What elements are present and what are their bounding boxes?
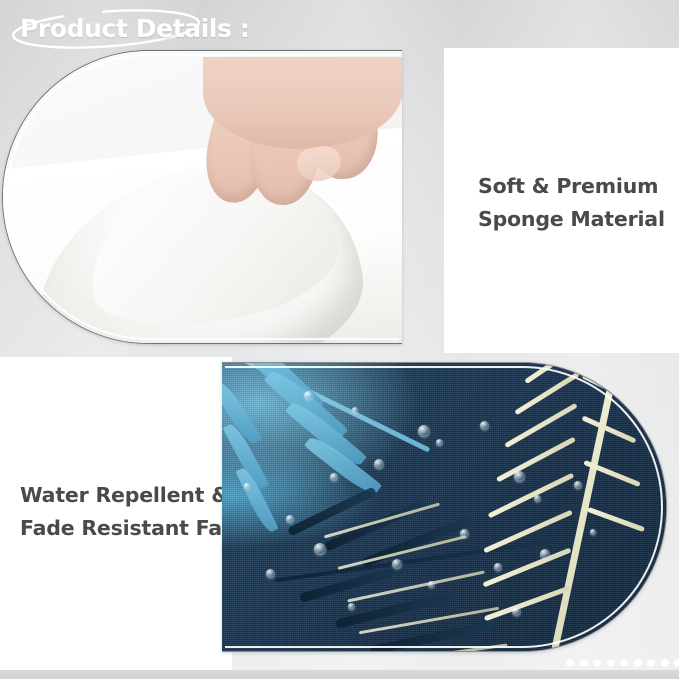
water-droplet (374, 459, 384, 469)
water-droplet (534, 495, 541, 502)
sponge-caption-line-1: Soft & Premium (478, 170, 668, 203)
fabric-photo-image (222, 363, 666, 651)
hand (199, 61, 402, 221)
water-droplet (436, 439, 443, 446)
bottom-strip (0, 670, 679, 679)
water-droplet (330, 473, 338, 481)
fabric-caption: Water Repellent & Fade Resistant Fabric (20, 479, 240, 545)
fern-stem (547, 363, 622, 651)
water-droplet (590, 529, 596, 535)
cream-ivory-fern (396, 363, 646, 651)
pagination-dot[interactable] (607, 659, 615, 667)
water-droplet (540, 549, 550, 559)
fabric-caption-card: Water Repellent & Fade Resistant Fabric (0, 357, 232, 670)
product-details-infographic: Product Details : Soft & Premium Sponge … (0, 0, 679, 679)
pagination-dot[interactable] (580, 659, 588, 667)
sponge-caption-card: Soft & Premium Sponge Material (444, 48, 679, 353)
pagination-dot[interactable] (620, 659, 628, 667)
water-droplet (418, 425, 430, 437)
water-droplet (266, 569, 275, 578)
water-droplet (460, 529, 469, 538)
pagination-dot[interactable] (566, 659, 574, 667)
fern-leaf (581, 415, 636, 443)
pagination-dot[interactable] (647, 659, 655, 667)
water-droplet (480, 421, 489, 430)
water-droplet (574, 481, 582, 489)
water-droplet (428, 581, 435, 588)
water-droplet (512, 607, 521, 616)
pagination-dot[interactable] (674, 659, 679, 667)
fern-leaf (484, 586, 570, 621)
water-droplet (514, 471, 525, 482)
sponge-caption-line-2: Sponge Material (478, 203, 668, 236)
water-droplet (314, 543, 326, 555)
fabric-photo-panel (222, 362, 667, 652)
water-droplet (352, 407, 358, 413)
sponge-photo-panel (2, 50, 402, 344)
pagination-dot[interactable] (661, 659, 669, 667)
fern-leaf (587, 507, 645, 532)
fabric-caption-line-2: Fade Resistant Fabric (20, 512, 240, 545)
water-droplet (244, 483, 250, 489)
water-droplet (286, 515, 294, 523)
sponge-caption: Soft & Premium Sponge Material (478, 170, 668, 236)
water-droplet (494, 563, 502, 571)
sponge-photo-image (3, 51, 402, 343)
pagination-dot[interactable] (634, 659, 642, 667)
fern-leaf (483, 510, 573, 554)
pagination-dots[interactable] (566, 659, 679, 667)
fabric-caption-line-1: Water Repellent & (20, 479, 240, 512)
pagination-dot[interactable] (593, 659, 601, 667)
water-droplet (304, 391, 313, 400)
water-droplet (392, 559, 402, 569)
page-title: Product Details : (20, 14, 249, 43)
water-droplet (348, 603, 355, 610)
